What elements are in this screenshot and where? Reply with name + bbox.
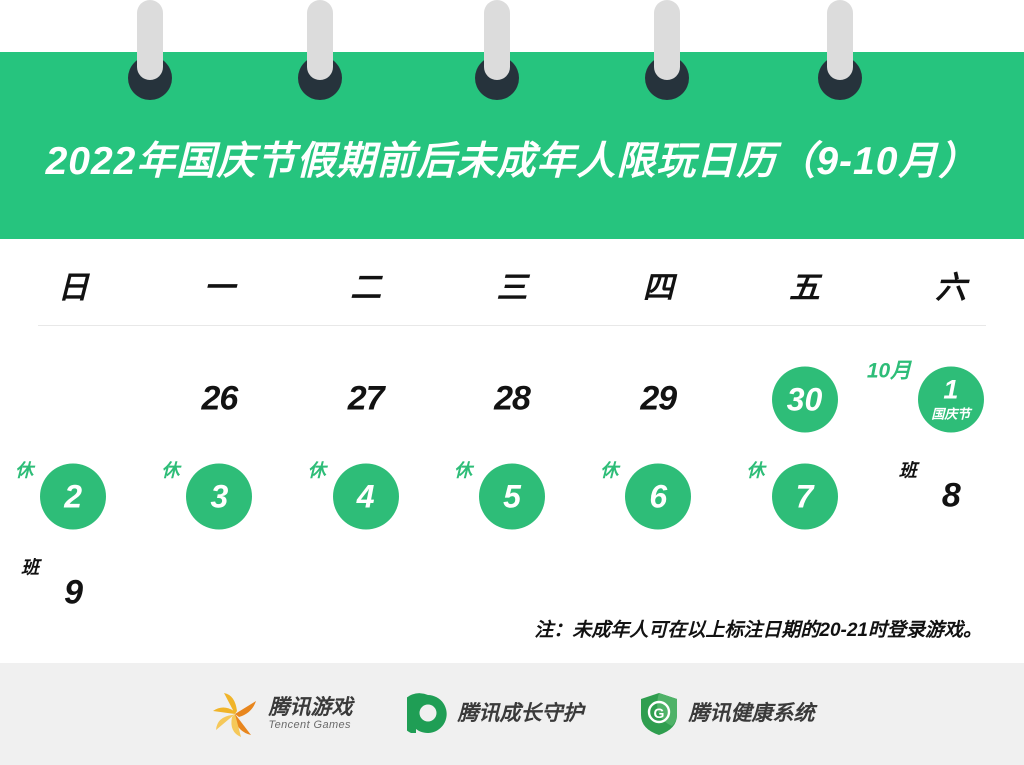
day-cell-inner: 28 xyxy=(452,350,572,447)
binder-ring-bar xyxy=(654,0,680,80)
footer-logo-text: 腾讯健康系统 xyxy=(689,702,815,726)
day-cell-inner xyxy=(13,350,133,447)
footer-logo-2[interactable]: G腾讯健康系统 xyxy=(638,688,815,740)
day-cell[interactable]: 9班 xyxy=(0,544,146,641)
day-cell-inner: 29 xyxy=(598,350,718,447)
week-row: 2休3休4休5休6休7休8班 xyxy=(0,447,1024,544)
play-allowed-day-circle[interactable]: 5 xyxy=(479,463,545,529)
day-cell[interactable]: 30 xyxy=(731,350,877,447)
play-allowed-day-circle[interactable]: 2 xyxy=(40,463,106,529)
day-cell-inner: 6休 xyxy=(598,447,718,544)
day-cell-inner: 1国庆节10月 xyxy=(891,350,1011,447)
day-cell[interactable]: 5休 xyxy=(439,447,585,544)
day-number: 29 xyxy=(598,350,718,447)
day-grid: 26272829301国庆节10月2休3休4休5休6休7休8班9班 xyxy=(0,350,1024,641)
day-cell[interactable]: 3休 xyxy=(146,447,292,544)
page-title: 2022年国庆节假期前后未成年人限玩日历（9-10月） xyxy=(0,142,1024,181)
day-cell xyxy=(0,350,146,447)
binder-ring xyxy=(137,0,163,96)
binder-ring xyxy=(484,0,510,96)
day-number: 6 xyxy=(649,480,667,512)
day-cell-inner: 27 xyxy=(306,350,426,447)
week-row: 26272829301国庆节10月 xyxy=(0,350,1024,447)
binder-ring-bar xyxy=(484,0,510,80)
rest-day-tag: 休 xyxy=(308,461,326,479)
footer-logo-name-en: Tencent Games xyxy=(269,719,353,732)
footer-logo-1[interactable]: 腾讯成长守护 xyxy=(407,688,584,740)
growth-guardian-ring-icon xyxy=(407,693,449,735)
weekday-header-3: 三 xyxy=(439,262,585,314)
weekday-header-5: 五 xyxy=(731,262,877,314)
day-cell[interactable]: 27 xyxy=(293,350,439,447)
rest-day-tag: 休 xyxy=(747,461,765,479)
day-cell[interactable]: 6休 xyxy=(585,447,731,544)
holiday-name-label: 国庆节 xyxy=(931,407,970,420)
footer-logo-name-cn: 腾讯健康系统 xyxy=(689,702,815,726)
play-allowed-day-circle[interactable]: 4 xyxy=(333,463,399,529)
day-cell-inner: 3休 xyxy=(159,447,279,544)
rest-day-tag: 休 xyxy=(161,461,179,479)
footer-logo-bar: 腾讯游戏Tencent Games腾讯成长守护G腾讯健康系统 xyxy=(0,663,1024,765)
day-cell-inner xyxy=(306,544,426,641)
day-cell[interactable]: 2休 xyxy=(0,447,146,544)
play-allowed-day-circle[interactable]: 6 xyxy=(625,463,691,529)
day-number: 26 xyxy=(159,350,279,447)
day-cell-inner: 4休 xyxy=(306,447,426,544)
day-number: 1 xyxy=(943,376,958,403)
rest-day-tag: 休 xyxy=(15,461,33,479)
day-cell-inner: 2休 xyxy=(13,447,133,544)
day-cell[interactable]: 7休 xyxy=(731,447,877,544)
day-cell-inner: 7休 xyxy=(745,447,865,544)
day-cell-inner: 30 xyxy=(745,350,865,447)
day-cell-inner: 8班 xyxy=(891,447,1011,544)
play-allowed-day-circle[interactable]: 30 xyxy=(772,366,838,432)
header-divider xyxy=(38,325,986,326)
binder-ring xyxy=(654,0,680,96)
day-number: 4 xyxy=(357,480,375,512)
day-cell-inner: 5休 xyxy=(452,447,572,544)
weekday-header-0: 日 xyxy=(0,262,146,314)
health-system-shield-icon: G xyxy=(638,691,680,737)
weekday-header-row: 日一二三四五六 xyxy=(0,262,1024,314)
footer-logo-text: 腾讯成长守护 xyxy=(458,702,584,726)
day-cell[interactable]: 26 xyxy=(146,350,292,447)
svg-text:G: G xyxy=(653,705,664,721)
day-number: 7 xyxy=(796,480,814,512)
play-allowed-day-circle[interactable]: 7 xyxy=(772,463,838,529)
day-number: 30 xyxy=(787,383,823,415)
binder-ring-bar xyxy=(137,0,163,80)
play-allowed-day-circle[interactable]: 1国庆节 xyxy=(918,366,984,432)
day-number: 5 xyxy=(503,480,521,512)
day-cell xyxy=(293,544,439,641)
tencent-games-star-icon xyxy=(210,689,260,739)
day-number: 3 xyxy=(211,480,229,512)
calendar-poster: 2022年国庆节假期前后未成年人限玩日历（9-10月） 日一二三四五六 2627… xyxy=(0,0,1024,765)
day-cell[interactable]: 4休 xyxy=(293,447,439,544)
footer-logo-0[interactable]: 腾讯游戏Tencent Games xyxy=(210,688,353,740)
play-allowed-day-circle[interactable]: 3 xyxy=(186,463,252,529)
rest-day-tag: 休 xyxy=(454,461,472,479)
footer-logo-name-cn: 腾讯成长守护 xyxy=(458,702,584,726)
day-cell[interactable]: 28 xyxy=(439,350,585,447)
binder-ring-bar xyxy=(307,0,333,80)
binder-ring-bar xyxy=(827,0,853,80)
footnote-text: 注：未成年人可在以上标注日期的20-21时登录游戏。 xyxy=(534,615,982,642)
day-cell[interactable]: 29 xyxy=(585,350,731,447)
binder-ring xyxy=(307,0,333,96)
binder-rings xyxy=(0,0,1024,120)
weekday-header-1: 一 xyxy=(146,262,292,314)
weekday-header-4: 四 xyxy=(585,262,731,314)
day-number: 28 xyxy=(452,350,572,447)
day-cell-inner: 26 xyxy=(159,350,279,447)
day-cell-inner xyxy=(159,544,279,641)
weekday-header-2: 二 xyxy=(293,262,439,314)
rest-day-tag: 休 xyxy=(600,461,618,479)
month-marker-label: 10月 xyxy=(867,360,911,381)
binder-ring xyxy=(827,0,853,96)
day-cell xyxy=(146,544,292,641)
day-cell[interactable]: 8班 xyxy=(878,447,1024,544)
day-cell[interactable]: 1国庆节10月 xyxy=(878,350,1024,447)
weekday-header-6: 六 xyxy=(878,262,1024,314)
work-day-tag: 班 xyxy=(21,558,39,576)
day-number: 2 xyxy=(64,480,82,512)
work-day-tag: 班 xyxy=(899,461,917,479)
day-cell-inner: 9班 xyxy=(13,544,133,641)
footer-logo-text: 腾讯游戏Tencent Games xyxy=(269,696,353,732)
footer-logo-name-cn: 腾讯游戏 xyxy=(269,696,353,720)
day-number: 27 xyxy=(306,350,426,447)
